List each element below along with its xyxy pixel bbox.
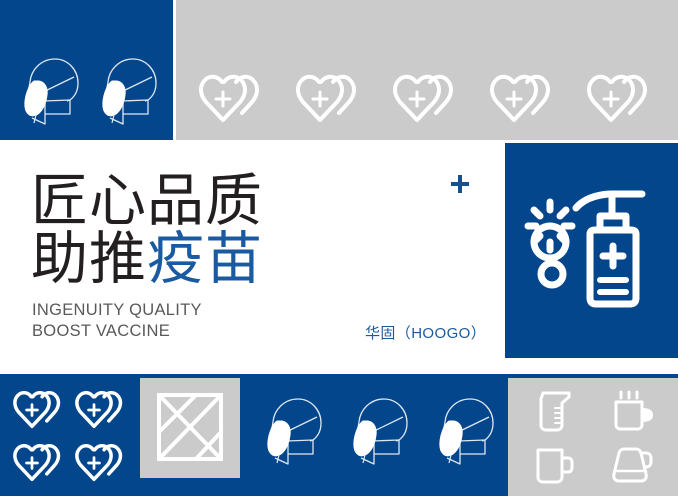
double-heart-plus-icon xyxy=(293,70,365,128)
masked-head-icon xyxy=(256,392,328,470)
double-heart-plus-icon xyxy=(73,440,129,486)
masked-head-icon xyxy=(342,392,414,470)
bottom-hearts-grid xyxy=(10,384,130,488)
top-hearts-row xyxy=(196,68,668,130)
plus-mark-icon xyxy=(451,175,469,193)
virus-icon xyxy=(528,202,572,258)
hand-sanitizer-bottle-icon xyxy=(576,194,642,304)
headline-line-2-accent: 疫苗 xyxy=(147,227,263,291)
double-heart-plus-icon xyxy=(11,387,67,433)
double-heart-plus-icon xyxy=(487,70,559,128)
double-heart-plus-icon xyxy=(11,440,67,486)
double-heart-plus-icon xyxy=(390,70,462,128)
steaming-cup-icon xyxy=(610,389,656,433)
headline-line-1: 匠心品质 xyxy=(31,172,451,230)
subtitle-line-2: BOOST VACCINE xyxy=(32,321,202,342)
masked-head-icon xyxy=(428,392,500,470)
subtitle-block: INGENUITY QUALITY BOOST VACCINE xyxy=(32,300,202,342)
bottom-masked-heads-row xyxy=(256,392,504,470)
measuring-beaker-icon xyxy=(535,389,577,433)
masked-head-icon xyxy=(14,52,84,130)
headline-line-2: 助推疫苗 xyxy=(31,230,451,288)
headline-line-2-black: 助推 xyxy=(31,227,147,291)
headline-block: 匠心品质 助推疫苗 xyxy=(31,172,451,288)
kettle-icon xyxy=(610,444,656,486)
ring-icon xyxy=(541,263,563,285)
double-heart-plus-icon xyxy=(584,70,656,128)
bottom-vessels-grid xyxy=(524,388,664,488)
brand-name: 华固（HOOGO） xyxy=(365,322,486,343)
top-masked-heads-row xyxy=(14,52,164,130)
double-heart-plus-icon xyxy=(73,387,129,433)
mug-icon xyxy=(533,444,579,486)
sanitizer-panel-icons xyxy=(520,190,668,320)
poster-canvas: 匠心品质 助推疫苗 INGENUITY QUALITY BOOST VACCIN… xyxy=(0,0,678,496)
crossed-box-icon xyxy=(156,392,224,462)
subtitle-line-1: INGENUITY QUALITY xyxy=(32,300,202,321)
double-heart-plus-icon xyxy=(196,70,268,128)
masked-head-icon xyxy=(92,52,162,130)
